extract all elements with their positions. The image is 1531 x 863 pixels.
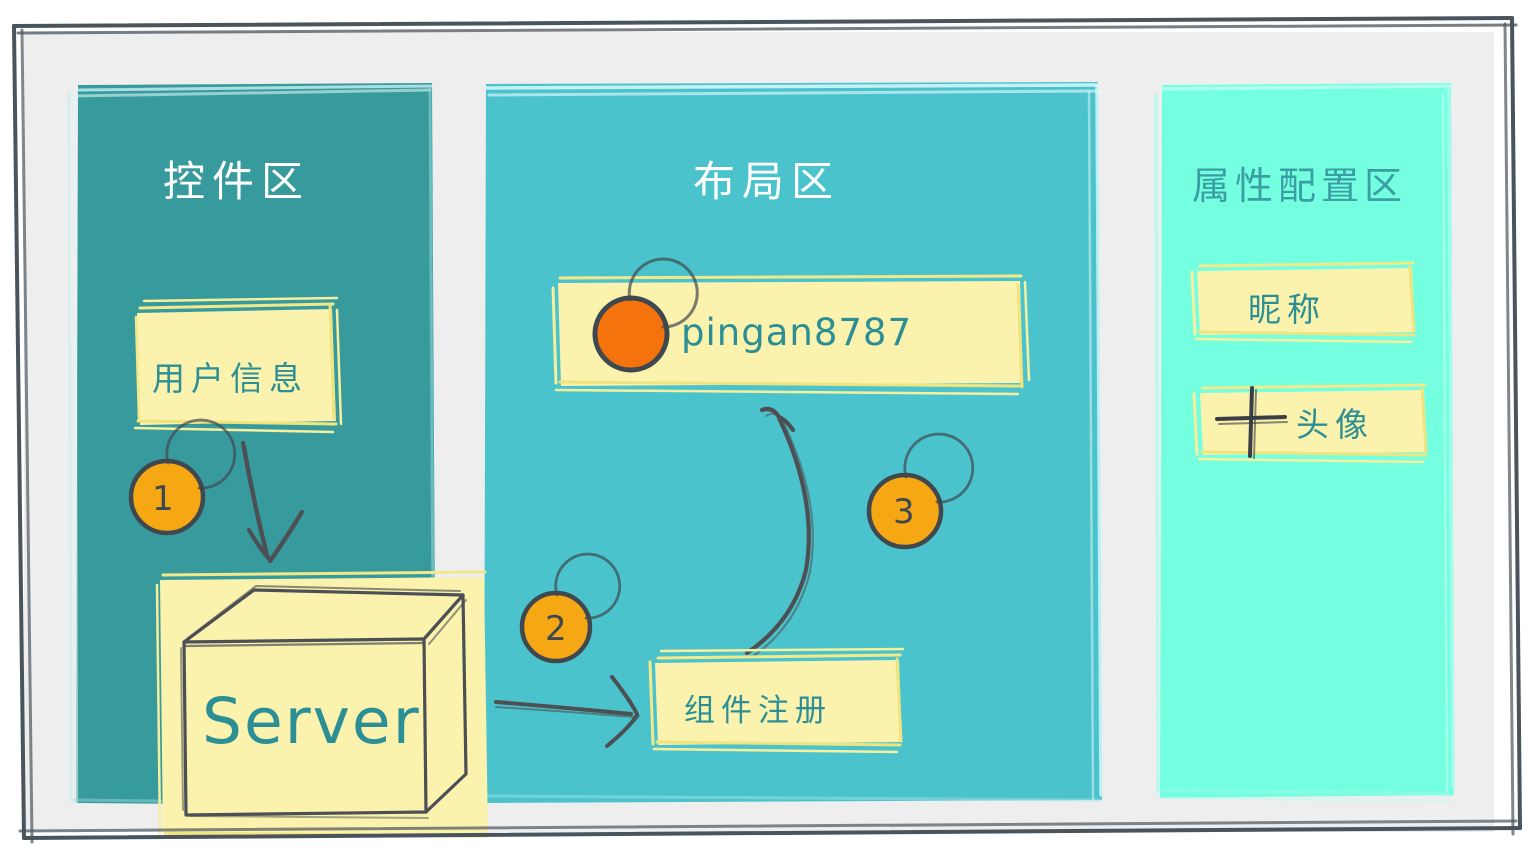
note-avatar-label: 头像 (1296, 398, 1374, 446)
badge-step-3-label: 3 (893, 492, 915, 532)
server-label: Server (202, 685, 421, 758)
diagram-canvas: 控件区 布局区 属性配置区 用户信息 组件注册 昵称 头像 Server pin… (0, 0, 1531, 863)
badge-step-2-label: 2 (545, 609, 567, 649)
note-component-register-label: 组件注册 (684, 685, 832, 730)
badge-step-1-label: 1 (152, 479, 174, 519)
note-user-info-label: 用户信息 (152, 352, 308, 400)
panel-title-widget-area: 控件区 (163, 148, 310, 209)
username-label: pingan8787 (681, 311, 912, 354)
panel-title-layout-area: 布局区 (693, 148, 840, 209)
note-nickname-label: 昵称 (1248, 283, 1326, 331)
panel-title-property-area: 属性配置区 (1192, 155, 1407, 210)
